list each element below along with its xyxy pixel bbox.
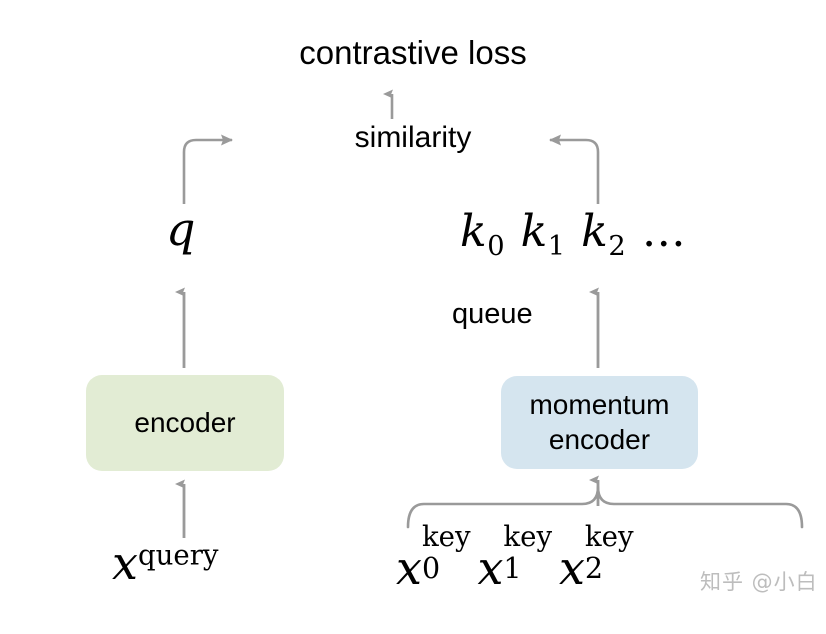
key-input-scripts-0: key0 [422,538,451,584]
key-input-base-1: x [477,541,503,595]
key-representations-row: k0k1k2… [460,210,688,260]
key-base-0: k [460,206,487,257]
zhihu-watermark: 知乎 @小白 [700,566,818,596]
key-input-symbol-0: xkey0 [396,541,450,595]
keys-ellipsis: … [642,206,688,257]
figure-canvas: contrastive loss similarity q k0k1k2… qu… [0,0,826,634]
momentum-encoder-line2: encoder [549,424,650,455]
key-input-superscript-0: key [422,523,471,551]
key-input-superscript-2: key [585,523,634,551]
key-input-subscript-0: 0 [422,555,440,584]
key-symbol-2: k2 [581,206,626,257]
key-input-superscript-1: key [503,523,552,551]
key-input-subscript-2: 2 [585,555,603,584]
key-input-symbol-1: xkey1 [477,541,531,595]
contrastive-loss-label: contrastive loss [0,36,826,71]
key-input-base-2: x [559,541,585,595]
momentum-encoder-line1: momentum [529,389,669,420]
key-input-subscript-1: 1 [503,555,521,584]
key-inputs-row: xkey0xkey1xkey2 [396,538,640,591]
key-base-1: k [521,206,548,257]
key-subscript-1: 1 [547,231,565,262]
momentum-encoder-box-label: momentum encoder [529,388,669,456]
key-input-symbol-2: xkey2 [559,541,613,595]
key-base-2: k [581,206,608,257]
queue-label: queue [452,299,533,329]
key-subscript-2: 2 [608,231,626,262]
momentum-encoder-box[interactable]: momentum encoder [501,376,698,469]
encoder-box[interactable]: encoder [86,375,284,471]
query-input-superscript: query [138,539,219,572]
key-symbol-1: k1 [521,206,566,257]
key-subscript-0: 0 [487,231,505,262]
similarity-label: similarity [0,122,826,154]
key-input-base-0: x [396,541,422,595]
key-symbol-0: k0 [460,206,505,257]
encoder-box-label: encoder [134,406,235,440]
query-input-symbol: xquery [112,540,219,586]
key-input-scripts-1: key1 [503,538,532,584]
query-representation-symbol: q [166,206,195,252]
query-input-base: x [112,536,138,590]
key-input-scripts-2: key2 [585,538,614,584]
